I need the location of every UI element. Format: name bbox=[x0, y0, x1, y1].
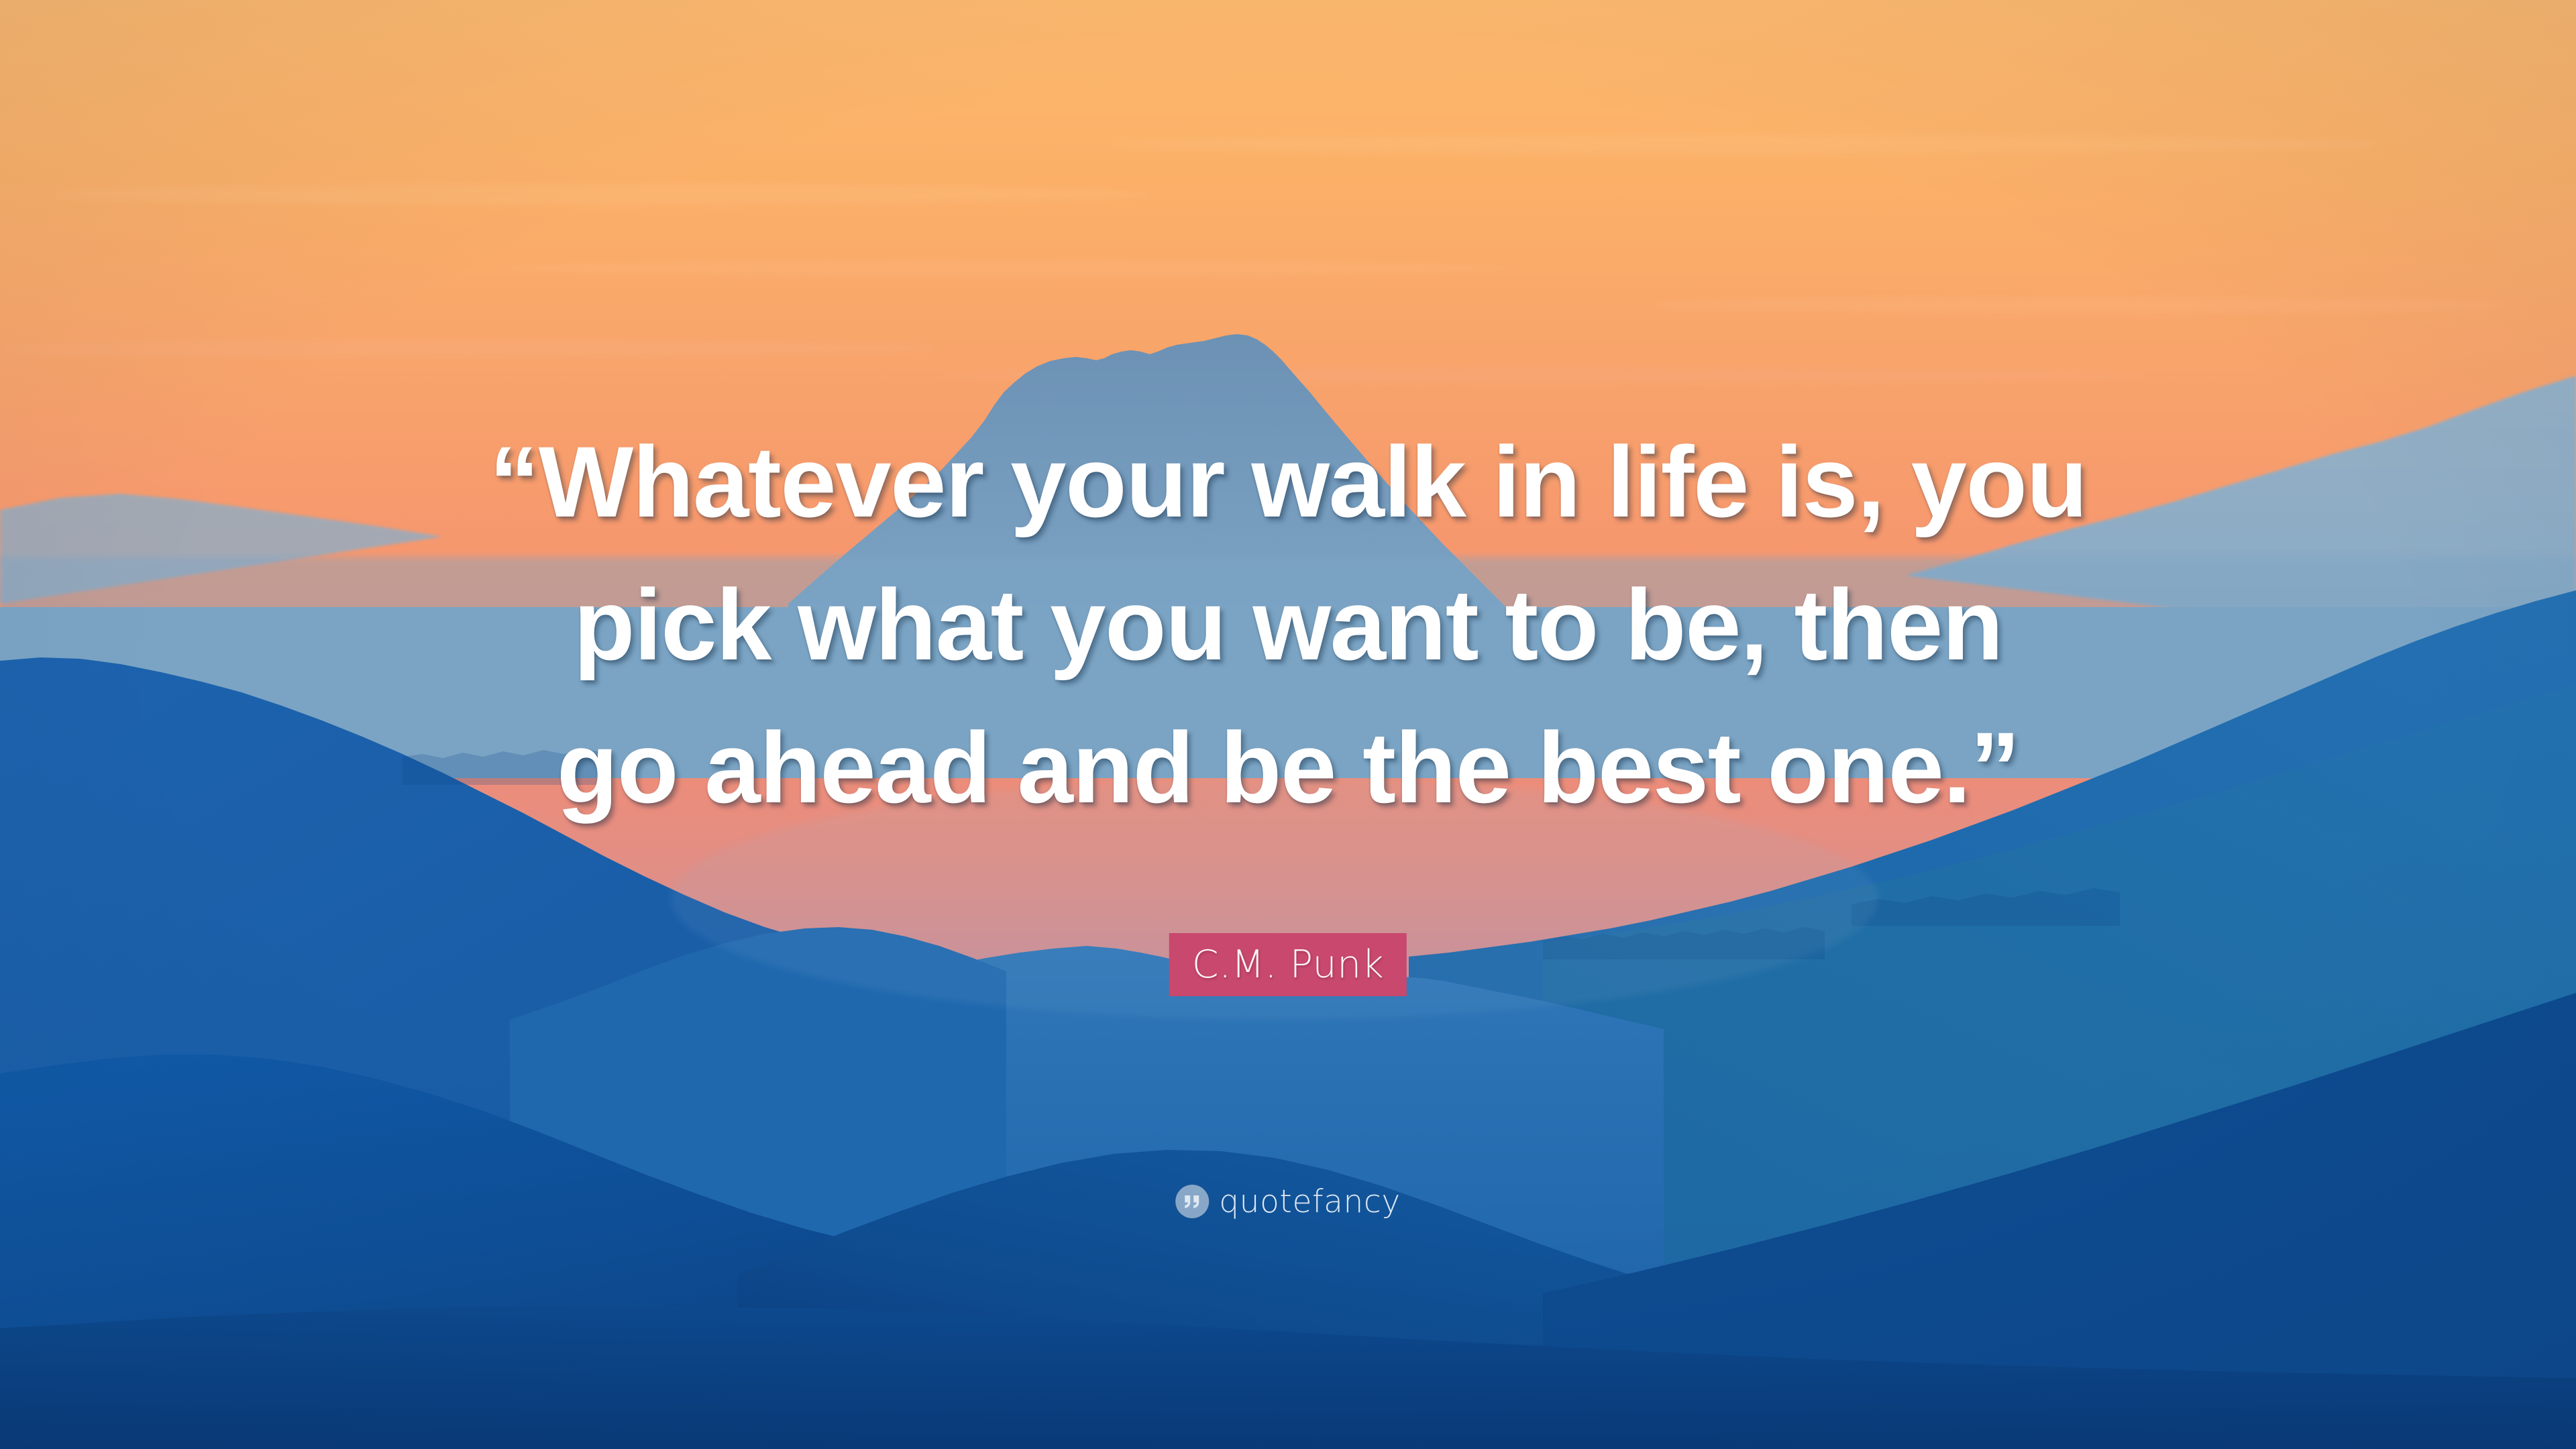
author-name: C.M. Punk bbox=[1192, 946, 1384, 984]
quotefancy-watermark[interactable]: quotefancy bbox=[1175, 1185, 1401, 1218]
quote-line-2: pick what you want to be, then bbox=[0, 553, 2576, 696]
quote-mark-icon bbox=[1175, 1185, 1209, 1218]
wallpaper-canvas: “Whatever your walk in life is, you pick… bbox=[0, 0, 2576, 1449]
quote-line-3: go ahead and be the best one.” bbox=[0, 696, 2576, 839]
quotefancy-brand-text: quotefancy bbox=[1219, 1186, 1401, 1218]
quote-text-block: “Whatever your walk in life is, you pick… bbox=[0, 411, 2576, 839]
author-badge[interactable]: C.M. Punk bbox=[1169, 933, 1407, 996]
quote-line-1: “Whatever your walk in life is, you bbox=[0, 411, 2576, 553]
